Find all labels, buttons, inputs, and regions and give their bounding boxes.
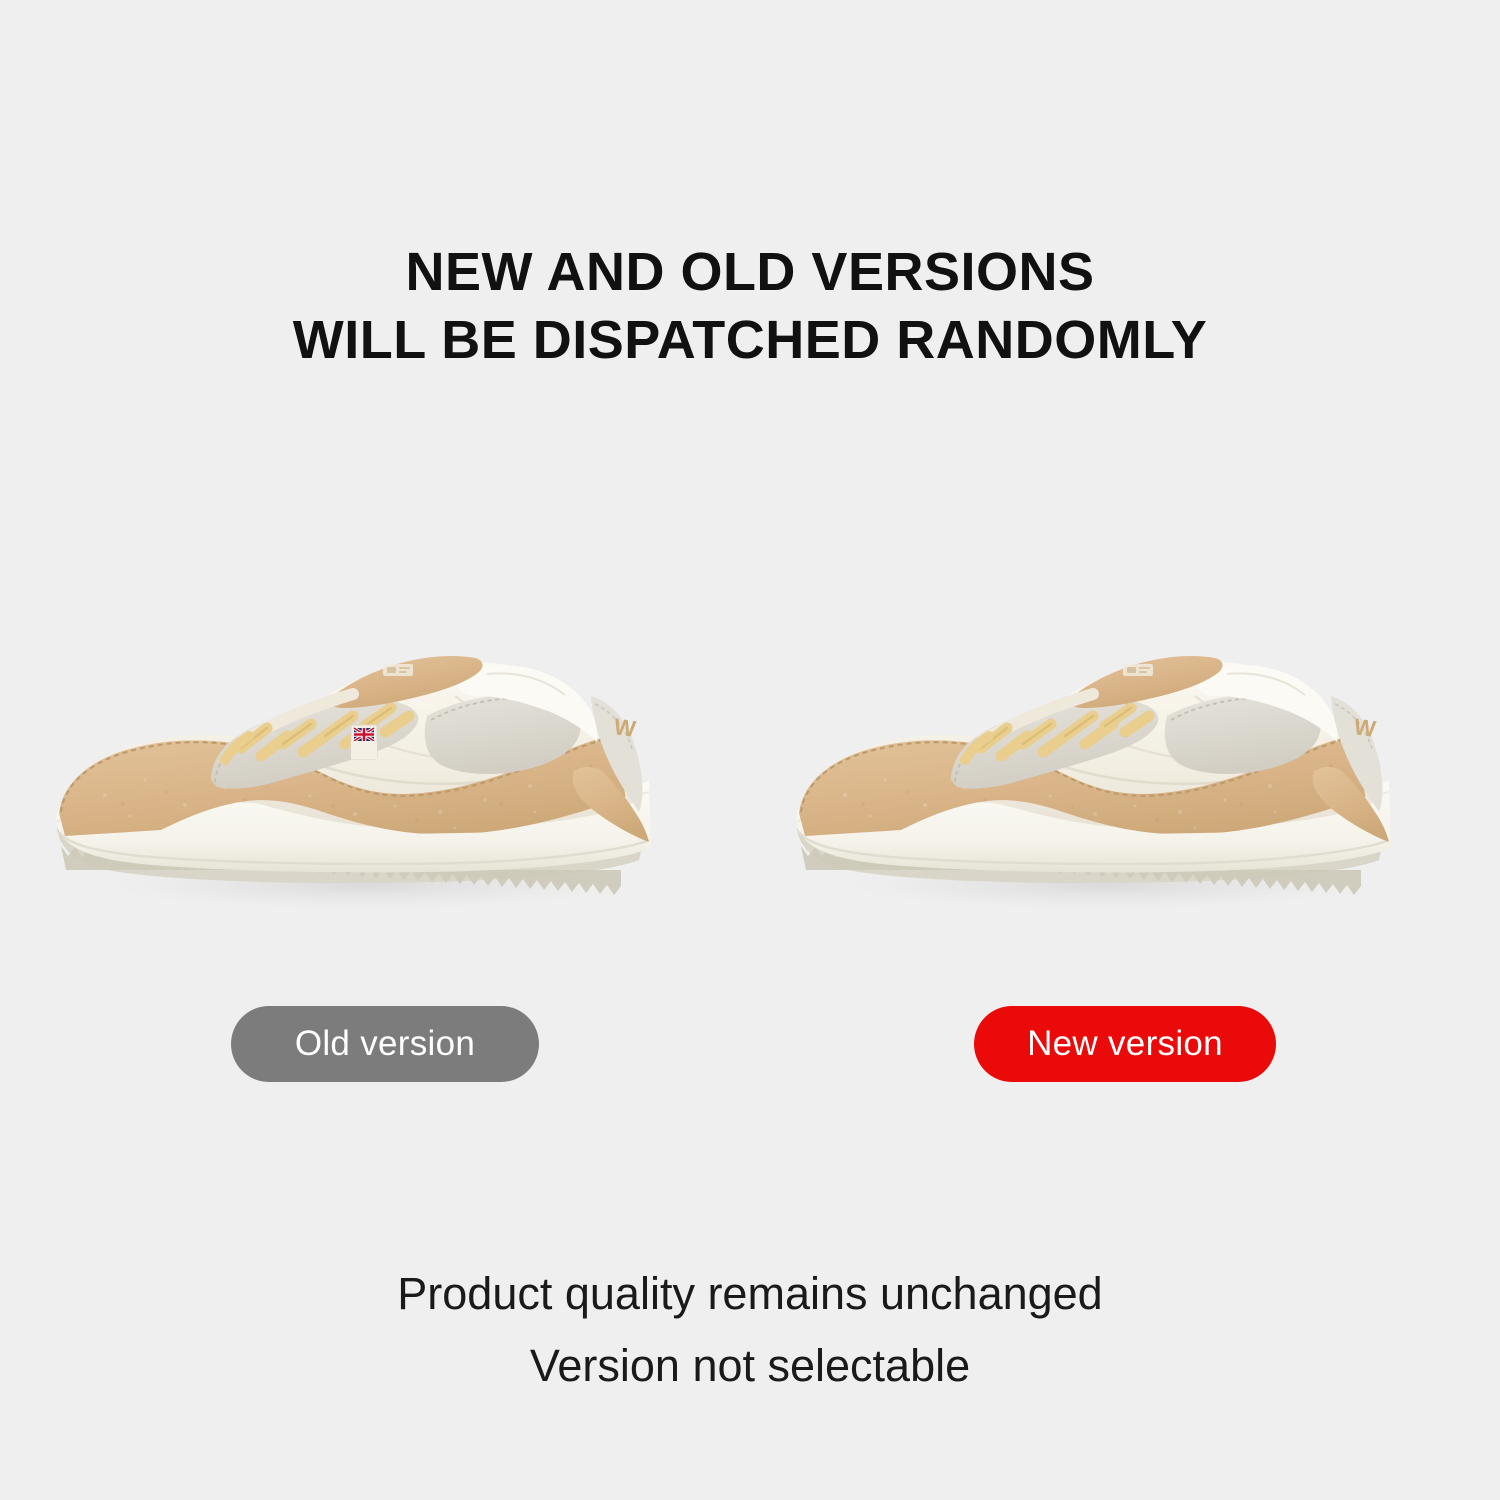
product-comparison-row: W [0,600,1500,940]
footer-line-1: Product quality remains unchanged [0,1258,1500,1330]
product-version-notice: NEW AND OLD VERSIONS WILL BE DISPATCHED … [0,0,1500,1500]
version-badge-row: Old version New version [0,1006,1500,1084]
sneaker-illustration-old: W [35,600,735,940]
page-title: NEW AND OLD VERSIONS WILL BE DISPATCHED … [0,238,1500,374]
page-title-line-1: NEW AND OLD VERSIONS [0,238,1500,306]
badge-new-version: New version [974,1006,1276,1082]
heel-brand-logo: W [1352,713,1377,742]
product-image-old-version: W [35,600,735,940]
product-image-new-version: W [775,600,1475,940]
footer-note: Product quality remains unchanged Versio… [0,1258,1500,1402]
page-title-line-2: WILL BE DISPATCHED RANDOMLY [0,306,1500,374]
badge-old-version: Old version [231,1006,539,1082]
union-jack-flag-label [351,725,377,759]
footer-line-2: Version not selectable [0,1330,1500,1402]
heel-brand-logo: W [612,713,637,742]
sneaker-illustration-new: W [775,600,1475,940]
